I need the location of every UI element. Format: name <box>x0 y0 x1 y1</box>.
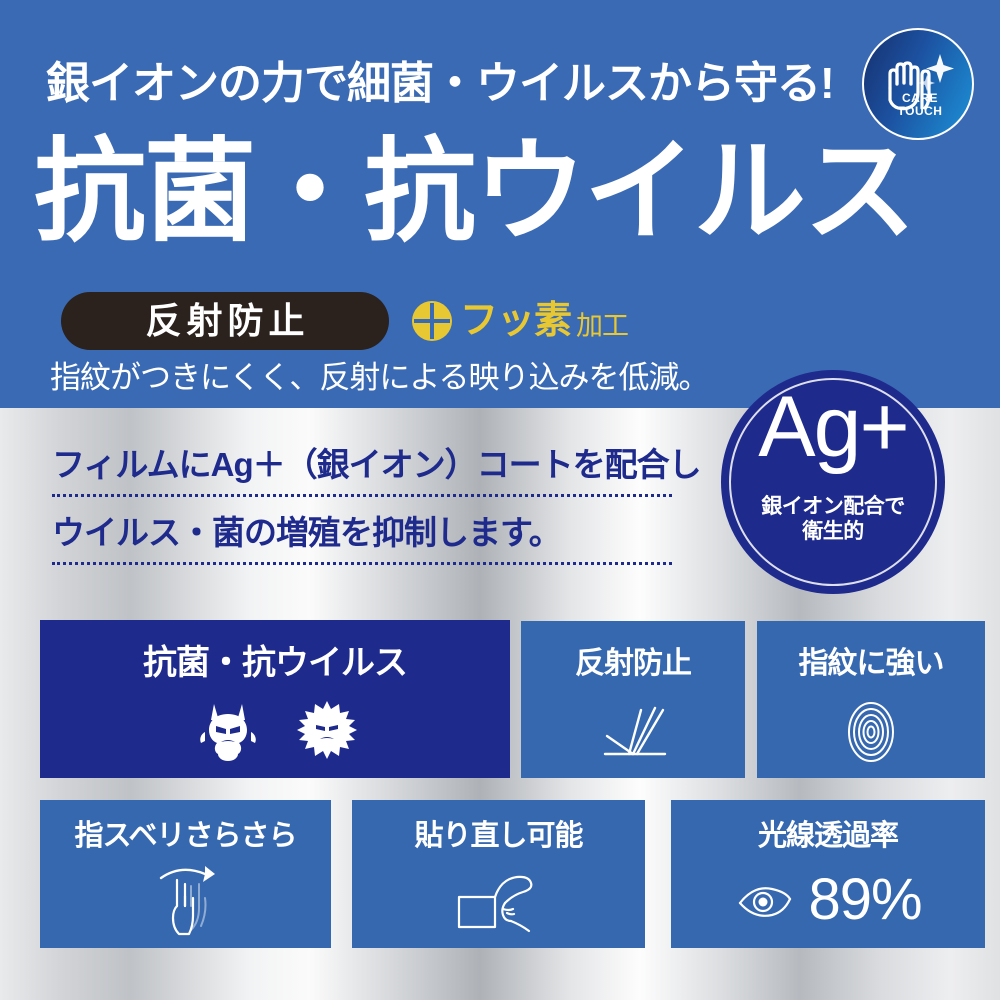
feature-card-transmittance: 光線透過率 89% <box>671 800 985 948</box>
anti-reflect-pill: 反射防止 <box>61 292 389 350</box>
germ-icon <box>192 698 264 762</box>
feature-card-transmittance-icon-group: 89% <box>671 862 985 938</box>
transmittance-value: 89% <box>808 871 921 929</box>
care-touch-badge: CARE TOUCH <box>862 28 974 140</box>
hero-subtitle: 指紋がつきにくく、反射による映り込みを低減。 <box>50 362 708 393</box>
feature-card-antibacterial: 抗菌・抗ウイルス <box>40 620 510 778</box>
feature-card-antireflect: 反射防止 <box>521 621 745 778</box>
care-touch-line1: CARE <box>902 91 938 105</box>
feature-card-fingerprint-icon <box>757 701 985 763</box>
feature-card-antireflect-title: 反射防止 <box>521 649 745 679</box>
fluorine-sublabel: 加工 <box>576 313 628 340</box>
copy-line-2: ウイルス・菌の増殖を抑制します。 <box>52 516 672 565</box>
ag-caption-line2: 衛生的 <box>802 520 864 543</box>
virus-icon <box>296 699 358 761</box>
hero-tagline: 銀イオンの力で細菌・ウイルスから守る! <box>46 62 834 106</box>
product-infographic: 銀イオンの力で細菌・ウイルスから守る! 抗菌・抗ウイルス CARE TOUCH <box>0 0 1000 1000</box>
peeling-film-hand-icon <box>451 869 547 935</box>
ag-caption: 銀イオン配合で 衛生的 <box>721 495 945 545</box>
ag-symbol: Ag+ <box>721 384 945 470</box>
feature-card-antibacterial-icons <box>40 698 510 762</box>
care-touch-line2: TOUCH <box>898 104 943 118</box>
hand-sparkle-icon <box>864 30 976 142</box>
copy-block: フィルムにAg＋（銀イオン）コートを配合し ウイルス・菌の増殖を抑制します。 <box>52 448 672 565</box>
fluorine-coating-group: フッ素 加工 <box>412 296 628 346</box>
feature-card-smooth-icon <box>40 862 331 938</box>
eye-icon <box>734 879 796 921</box>
ag-plus-badge: Ag+ 銀イオン配合で 衛生的 <box>721 370 945 594</box>
copy-line-1: フィルムにAg＋（銀イオン）コートを配合し <box>52 448 672 497</box>
feature-card-fingerprint-title: 指紋に強い <box>757 649 985 679</box>
light-reflection-icon <box>593 702 673 762</box>
care-touch-label: CARE TOUCH <box>864 92 976 118</box>
feature-card-smooth: 指スベリさらさら <box>40 800 331 948</box>
feature-card-fingerprint: 指紋に強い <box>757 621 985 778</box>
feature-card-reposition-title: 貼り直し可能 <box>352 822 645 851</box>
plus-icon <box>412 301 452 341</box>
feature-card-reposition-icon <box>352 866 645 938</box>
fingerprint-icon <box>846 701 896 763</box>
hero-title: 抗菌・抗ウイルス <box>34 128 914 257</box>
feature-card-reposition: 貼り直し可能 <box>352 800 645 948</box>
swiping-fingers-icon <box>143 862 229 938</box>
feature-card-antireflect-icon <box>521 701 745 763</box>
ag-caption-line1: 銀イオン配合で <box>761 495 905 518</box>
feature-card-antibacterial-title: 抗菌・抗ウイルス <box>40 646 510 680</box>
fluorine-label: フッ素 <box>460 302 571 340</box>
feature-card-transmittance-title: 光線透過率 <box>671 822 985 851</box>
hero-panel: 銀イオンの力で細菌・ウイルスから守る! 抗菌・抗ウイルス CARE TOUCH <box>0 0 1000 408</box>
feature-card-smooth-title: 指スベリさらさら <box>40 822 331 851</box>
